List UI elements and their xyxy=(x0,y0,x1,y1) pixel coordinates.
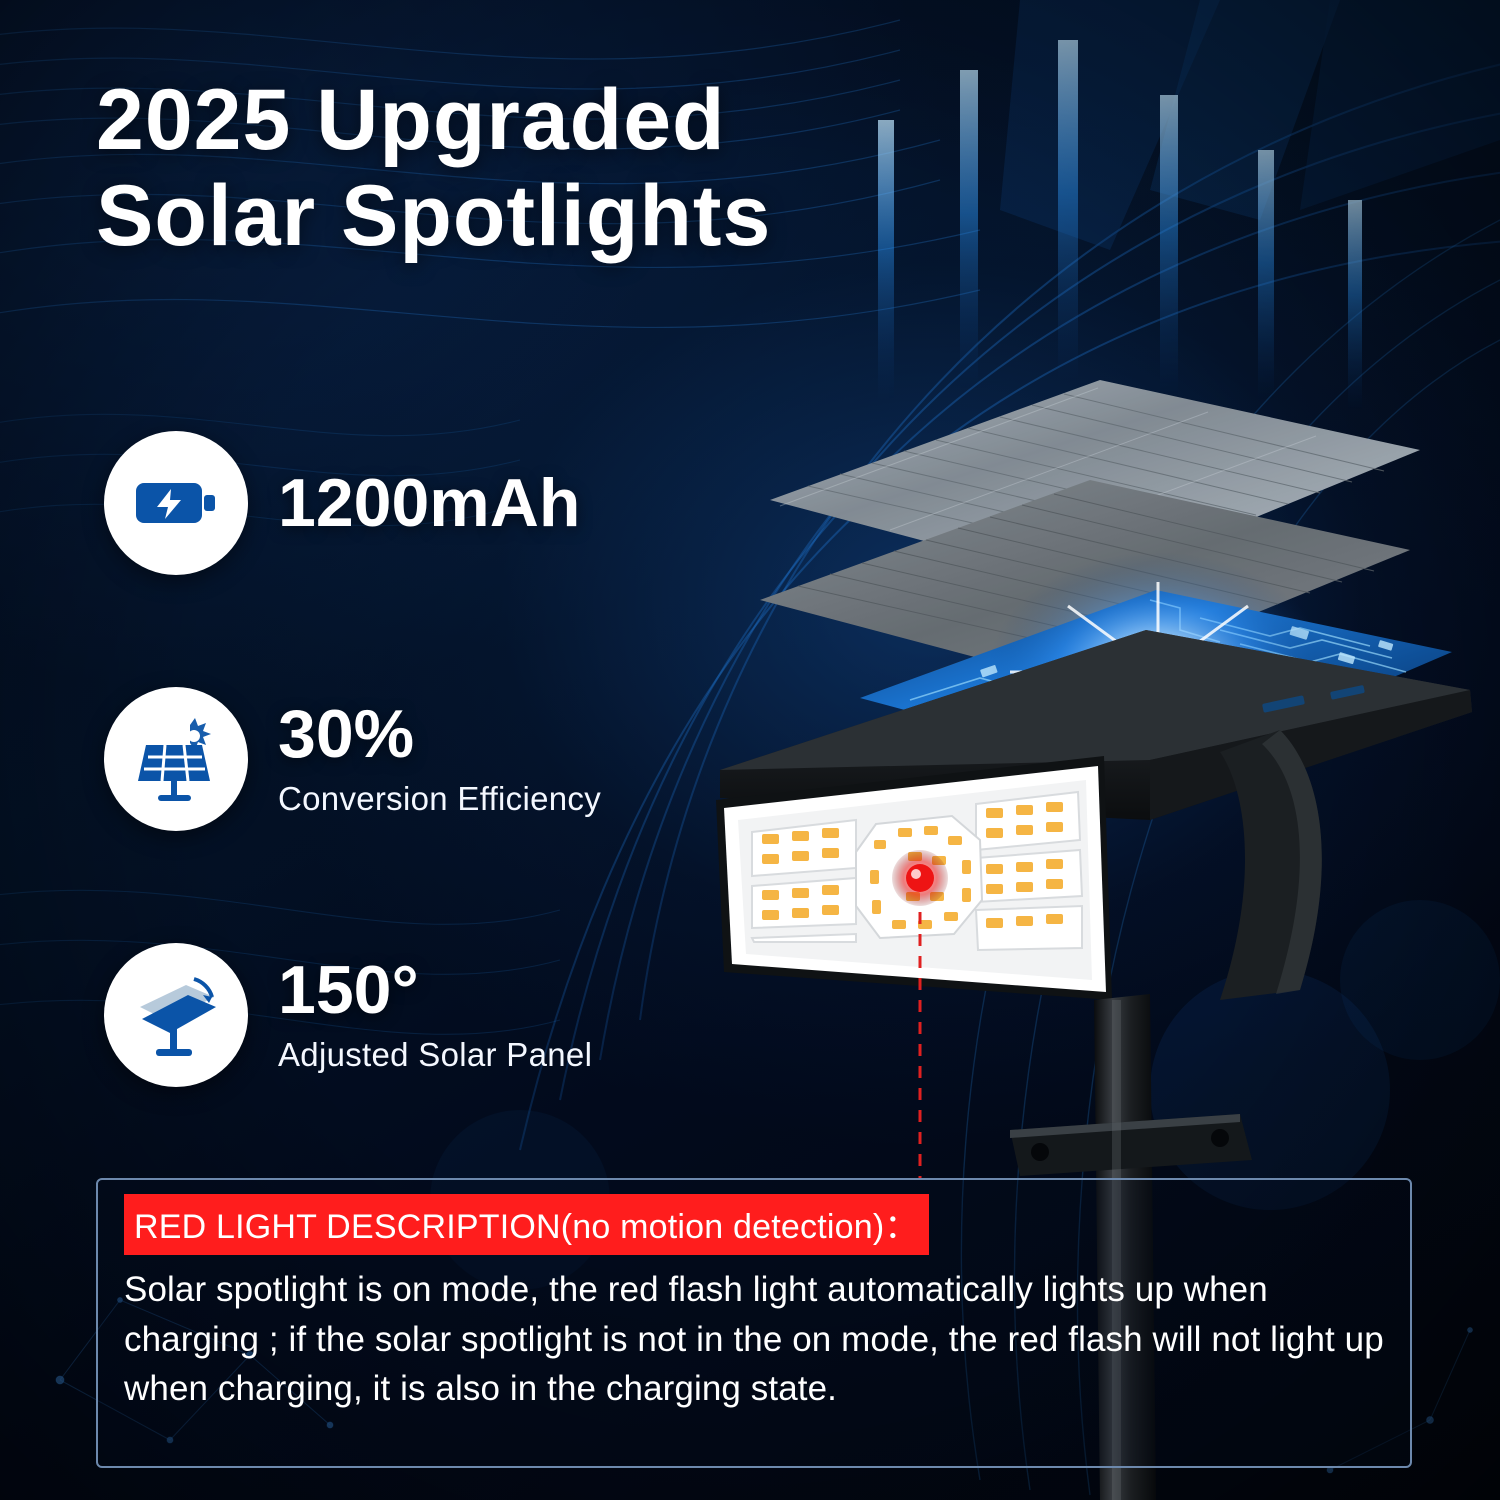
feature-value: 30% xyxy=(278,700,601,768)
adjustable-panel-angle-icon xyxy=(124,963,228,1067)
feature-caption: Adjusted Solar Panel xyxy=(278,1036,592,1074)
feature-icon-badge xyxy=(104,687,248,831)
feature-item-efficiency: 30% Conversion Efficiency xyxy=(104,674,724,844)
solar-panel-sun-icon xyxy=(124,707,228,811)
red-flash-light xyxy=(892,850,948,906)
feature-list: 1200mAh xyxy=(104,418,724,1100)
feature-value: 150° xyxy=(278,956,592,1024)
feature-item-battery: 1200mAh xyxy=(104,418,724,588)
headline-line-2: Solar Spotlights xyxy=(96,168,1076,264)
description-body: Solar spotlight is on mode, the red flas… xyxy=(124,1265,1388,1414)
headline-line-1: 2025 Upgraded xyxy=(96,72,1076,168)
feature-text: 1200mAh xyxy=(278,469,580,537)
feature-icon-badge xyxy=(104,943,248,1087)
product-infographic: 2025 Upgraded Solar Spotlights 1200mAh xyxy=(0,0,1500,1500)
feature-caption: Conversion Efficiency xyxy=(278,780,601,818)
feature-text: 30% Conversion Efficiency xyxy=(278,700,601,818)
page-title: 2025 Upgraded Solar Spotlights xyxy=(96,72,1076,265)
battery-bolt-icon xyxy=(124,451,228,555)
feature-icon-badge xyxy=(104,431,248,575)
red-light-description-box: RED LIGHT DESCRIPTION(no motion detectio… xyxy=(96,1178,1412,1468)
feature-text: 150° Adjusted Solar Panel xyxy=(278,956,592,1074)
feature-item-angle: 150° Adjusted Solar Panel xyxy=(104,930,724,1100)
description-title: RED LIGHT DESCRIPTION(no motion detectio… xyxy=(124,1194,929,1255)
feature-value: 1200mAh xyxy=(278,469,580,537)
